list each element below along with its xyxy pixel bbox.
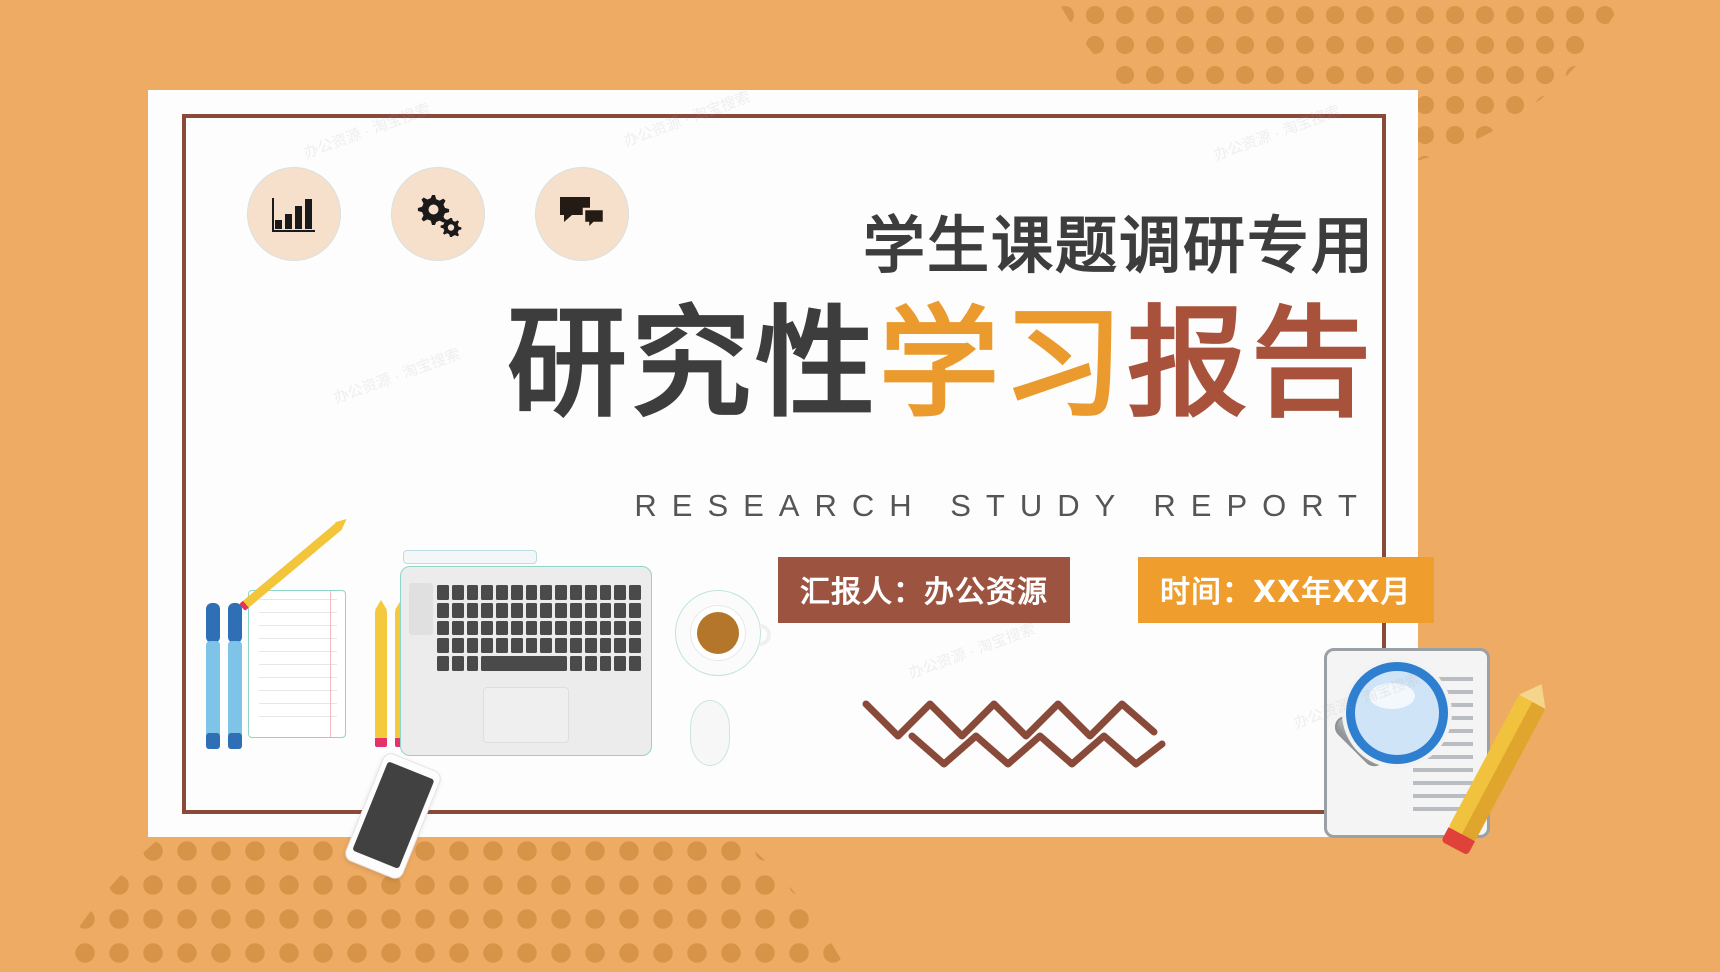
laptop-icon: [400, 566, 652, 756]
title-part-1: 研究性: [507, 295, 879, 434]
bar-chart-glyph: [271, 194, 317, 234]
mouse-icon: [690, 700, 730, 766]
title-english: RESEARCH STUDY REPORT: [634, 488, 1372, 524]
title-part-2: 学习: [879, 295, 1127, 434]
laptop-lid: [403, 550, 537, 564]
coffee-cup-icon: [675, 590, 761, 676]
zigzag-decoration: [862, 692, 1182, 768]
coffee-cup: [690, 605, 746, 661]
notepad-margin: [330, 591, 332, 737]
page-title: 研究性学习报告: [507, 305, 1375, 425]
bar-chart-icon[interactable]: [248, 168, 340, 260]
date-badge[interactable]: 时间：XX年XX月: [1138, 557, 1434, 623]
chat-bubbles-icon[interactable]: [536, 168, 628, 260]
notepad-lines: [259, 599, 337, 729]
coffee-liquid: [697, 612, 739, 654]
document-search-icon: [1312, 640, 1508, 845]
subtitle-chinese: 学生课题调研专用: [863, 195, 1375, 285]
notepad-icon: [248, 590, 346, 738]
magnifier-lens: [1346, 662, 1448, 764]
presenter-badge[interactable]: 汇报人：办公资源: [778, 557, 1070, 623]
topic-icon-row: [248, 168, 628, 260]
pens-icon: [202, 603, 248, 755]
info-badge-row: 汇报人：办公资源 时间：XX年XX月: [778, 557, 1434, 623]
gears-glyph: [413, 191, 463, 237]
laptop-speaker: [409, 583, 433, 635]
pencil-icon: [375, 610, 387, 738]
gears-icon[interactable]: [392, 168, 484, 260]
laptop-trackpad: [483, 687, 569, 743]
laptop-keyboard: [437, 585, 641, 671]
title-part-3: 报告: [1127, 295, 1375, 434]
desk-illustration: [190, 548, 810, 848]
chat-bubbles-glyph: [558, 195, 606, 233]
